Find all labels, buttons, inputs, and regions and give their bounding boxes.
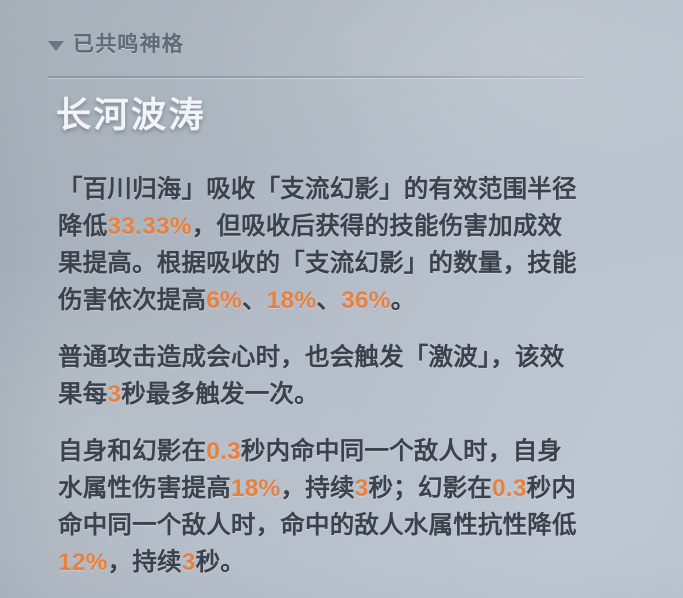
description-text: ，持续	[281, 475, 355, 502]
description-paragraph: 自身和幻影在0.3秒内命中同一个敌人时，自身水属性伤害提高18%，持续3秒；幻影…	[58, 433, 586, 581]
section-header-resonated-divine-grid[interactable]: 已共鸣神格	[48, 34, 184, 55]
highlight-value: 3	[182, 549, 196, 576]
description-text: 秒。	[196, 549, 245, 576]
description-text: 、	[316, 287, 341, 314]
highlight-value: 3	[107, 381, 121, 408]
highlight-value: 6%	[206, 287, 242, 314]
description-text: ，持续	[108, 549, 182, 576]
description-text: 秒；幻影在	[368, 475, 492, 502]
header-divider	[48, 76, 584, 78]
highlight-value: 3	[355, 475, 369, 502]
highlight-value: 0.3	[206, 438, 241, 465]
highlight-value: 18%	[267, 287, 317, 314]
description-text: 自身和幻影在	[58, 438, 206, 465]
section-header-label: 已共鸣神格	[73, 34, 184, 55]
description-text: 。	[391, 287, 416, 314]
highlight-value: 0.3	[492, 475, 527, 502]
skill-name: 长河波涛	[56, 95, 206, 136]
highlight-value: 33.33%	[107, 213, 191, 240]
skill-description: 「百川归海」吸收「支流幻影」的有效范围半径降低33.33%，但吸收后获得的技能伤…	[58, 171, 586, 581]
description-paragraph: 普通攻击造成会心时，也会触发「激波」，该效果每3秒最多触发一次。	[58, 339, 586, 413]
highlight-value: 36%	[341, 287, 391, 314]
triangle-down-icon[interactable]	[48, 41, 64, 51]
description-paragraph: 「百川归海」吸收「支流幻影」的有效范围半径降低33.33%，但吸收后获得的技能伤…	[58, 171, 586, 319]
highlight-value: 18%	[231, 475, 281, 502]
description-text: 、	[242, 287, 267, 314]
skill-detail-panel: 已共鸣神格 长河波涛 「百川归海」吸收「支流幻影」的有效范围半径降低33.33%…	[0, 0, 683, 598]
description-text: 秒最多触发一次。	[121, 381, 319, 408]
highlight-value: 12%	[58, 549, 108, 576]
